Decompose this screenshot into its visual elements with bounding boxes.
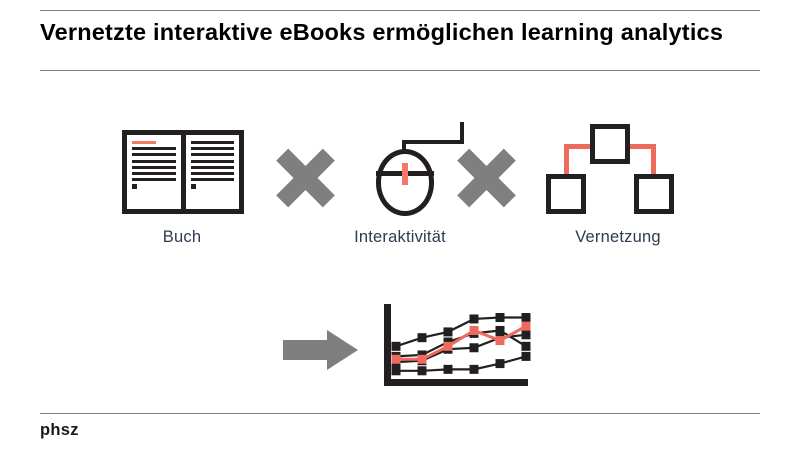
chart-marker	[444, 327, 453, 336]
chart-marker	[444, 342, 453, 351]
book-square-bullet	[191, 184, 196, 189]
chart-line-series-3	[396, 318, 526, 347]
book-line	[132, 153, 176, 156]
book-line	[132, 147, 176, 150]
chart-marker	[470, 326, 479, 335]
book-line	[132, 166, 176, 169]
book-line	[191, 147, 235, 150]
book-square-bullet	[132, 184, 137, 189]
book-line	[132, 172, 176, 175]
book-line	[191, 153, 235, 156]
chart-marker	[496, 336, 505, 345]
chart-marker	[470, 365, 479, 374]
book-line	[191, 172, 235, 175]
chart-marker	[496, 359, 505, 368]
header-bottom-divider	[40, 70, 760, 71]
mouse-cable-segment	[402, 140, 464, 144]
network-tree-icon	[546, 124, 682, 214]
book-line	[191, 141, 235, 144]
caption-buch: Buch	[62, 228, 302, 247]
multiply-x-icon	[279, 152, 331, 204]
network-node-bottom-right	[634, 174, 674, 214]
multiply-x-icon	[460, 152, 512, 204]
chart-marker	[522, 322, 531, 331]
book-page-left	[127, 135, 181, 209]
book-line	[191, 166, 235, 169]
header-top-divider	[40, 10, 760, 11]
chart-marker	[392, 366, 401, 375]
network-link	[564, 144, 569, 178]
caption-vernetzung: Vernetzung	[498, 228, 738, 247]
network-link	[651, 144, 656, 178]
chart-marker	[496, 313, 505, 322]
chart-marker	[522, 352, 531, 361]
line-chart-svg	[378, 300, 534, 396]
chart-marker	[522, 313, 531, 322]
chart-marker	[444, 365, 453, 374]
open-book-icon	[122, 130, 244, 214]
page-title: Vernetzte interaktive eBooks ermöglichen…	[40, 17, 770, 47]
right-arrow-icon	[283, 330, 358, 370]
chart-marker	[470, 343, 479, 352]
slide-canvas: Vernetzte interaktive eBooks ermöglichen…	[0, 0, 800, 450]
book-line	[191, 160, 235, 163]
caption-interaktivitaet: Interaktivität	[280, 228, 520, 247]
book-line	[132, 178, 176, 181]
computer-mouse-icon	[370, 122, 470, 216]
book-line	[132, 160, 176, 163]
chart-marker	[418, 333, 427, 342]
chart-marker	[496, 326, 505, 335]
chart-line-series-4	[396, 330, 526, 356]
footer-divider	[40, 413, 760, 414]
chart-marker	[522, 330, 531, 339]
book-frame	[122, 130, 244, 214]
line-chart-icon	[378, 300, 534, 396]
chart-marker	[418, 355, 427, 364]
footer-logo: phsz	[40, 421, 79, 440]
chart-marker	[392, 342, 401, 351]
mouse-scroll-wheel	[402, 163, 408, 185]
book-page-right	[186, 135, 240, 209]
network-node-top	[590, 124, 630, 164]
network-node-bottom-left	[546, 174, 586, 214]
book-line	[191, 178, 235, 181]
chart-marker	[418, 366, 427, 375]
chart-marker	[470, 314, 479, 323]
chart-marker	[392, 355, 401, 364]
chart-axes	[384, 304, 528, 386]
book-line-highlight	[132, 141, 156, 144]
chart-marker	[522, 342, 531, 351]
